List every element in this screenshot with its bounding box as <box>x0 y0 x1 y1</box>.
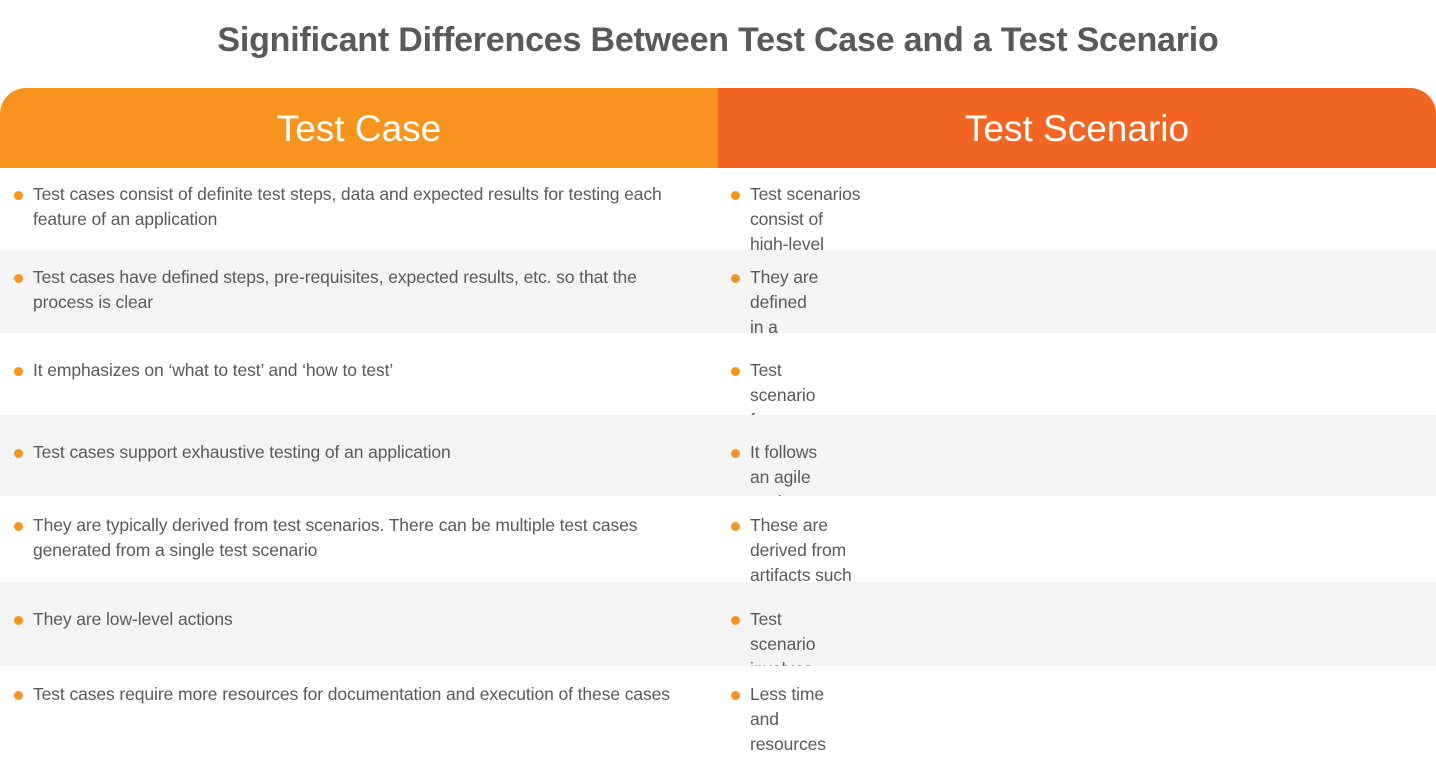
table-row: Test cases require more resources for do… <box>0 666 1436 757</box>
page-title-text: Significant Differences Between Test Cas… <box>217 21 1218 60</box>
table-row: They are typically derived from test sce… <box>0 496 1436 582</box>
table-header: Test Case Test Scenario <box>0 88 1436 168</box>
column-header-test-case-label: Test Case <box>277 110 442 147</box>
column-header-test-scenario-label: Test Scenario <box>965 110 1189 147</box>
table-row: Test cases have defined steps, pre-requi… <box>0 250 1436 333</box>
table-row: Test cases support exhaustive testing of… <box>0 415 1436 496</box>
table-row: They are low-level actions Test scenario… <box>0 582 1436 666</box>
table-cell-text: Less time and resources required for cre… <box>750 682 826 757</box>
table-row: It emphasizes on ‘what to test’ and ‘how… <box>0 333 1436 415</box>
table-cell-test-scenario: It follows an agile testing approach <box>0 415 840 496</box>
table-cell-test-scenario: Test scenario involves high-level action… <box>0 582 833 666</box>
bullet-icon <box>731 367 740 376</box>
bullet-icon <box>731 191 740 200</box>
bullet-icon <box>731 449 740 458</box>
table-cell-test-scenario: These are derived from artifacts such as… <box>0 496 876 582</box>
comparison-infographic: Significant Differences Between Test Cas… <box>0 0 1436 757</box>
bullet-icon <box>731 691 740 700</box>
table-cell-test-scenario: They are defined in a single line only, … <box>0 250 842 333</box>
table-cell-test-scenario: Test scenarios consist of high-level doc… <box>0 168 882 250</box>
column-header-test-case: Test Case <box>0 88 718 168</box>
bullet-icon <box>731 522 740 531</box>
page-title: Significant Differences Between Test Cas… <box>0 0 1436 88</box>
table-row: Test cases consist of definite test step… <box>0 168 1436 250</box>
table-body: Test cases consist of definite test step… <box>0 168 1436 757</box>
table-cell-test-scenario: Test scenario focuses on what to test in… <box>0 333 833 415</box>
bullet-icon <box>731 274 740 283</box>
column-header-test-scenario: Test Scenario <box>718 88 1436 168</box>
table-cell-test-scenario: Less time and resources required for cre… <box>0 666 844 757</box>
bullet-icon <box>731 616 740 625</box>
